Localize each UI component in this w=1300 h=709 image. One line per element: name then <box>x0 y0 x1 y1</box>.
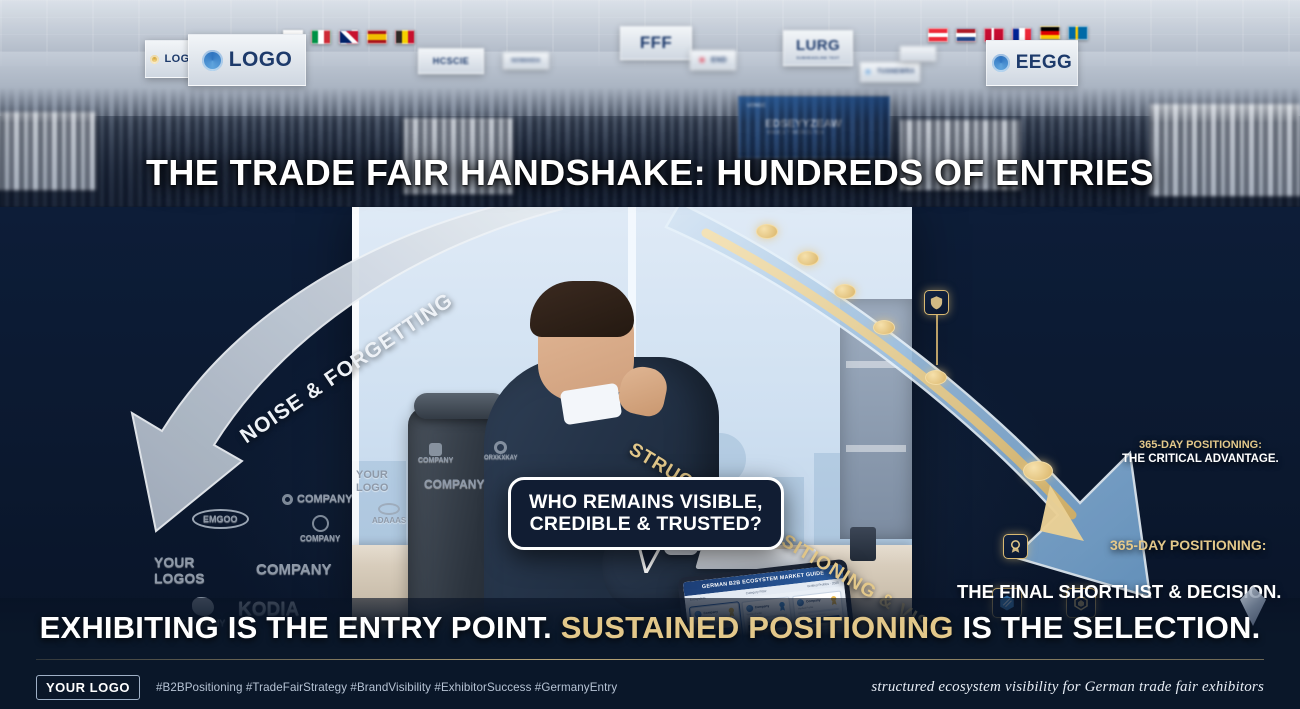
speech-bubble: WHO REMAINS VISIBLE, CREDIBLE & TRUSTED? <box>508 477 784 550</box>
hall-banner-fsio <box>900 46 936 61</box>
hall-banner-hcscie: HCSCIE <box>418 48 484 74</box>
hall-banner-label: END <box>711 57 727 64</box>
footer-row: YOUR LOGO #B2BPositioning #TradeFairStra… <box>0 670 1300 704</box>
hall-banner-label: LURG <box>796 37 840 54</box>
bottom-bar: EXHIBITING IS THE ENTRY POINT. SUSTAINED… <box>0 598 1300 709</box>
flag-at <box>928 28 948 42</box>
hall-banner-lurg: LURG SUBHEADLINE TEXT <box>783 30 853 66</box>
flag-gb <box>339 30 359 44</box>
your-logo-badge[interactable]: YOUR LOGO <box>36 675 140 700</box>
logo-item: YOUR LOGOS <box>154 555 205 586</box>
hall-banner-label: EEGG <box>1016 52 1073 74</box>
award-icon <box>1008 539 1023 554</box>
hall-banner-label: TUSNEWRA <box>877 69 915 75</box>
red-dot-icon <box>699 57 705 63</box>
flag-it <box>311 30 331 44</box>
flag-nl <box>956 28 976 42</box>
speech-bubble-line1: WHO REMAINS VISIBLE, <box>529 491 763 513</box>
path-node <box>925 370 947 385</box>
speech-bubble-line2: CREDIBLE & TRUSTED? <box>529 513 763 535</box>
blue-sphere-icon <box>992 54 1010 72</box>
blue-dot-icon <box>865 69 871 75</box>
caption-lower-gold: 365-DAY POSITIONING: <box>1110 537 1266 553</box>
circle-logo-icon <box>282 494 293 505</box>
hall-banner-nowanda: NOWANDA <box>503 52 549 69</box>
infographic-stage: LOGO LOGO HCSCIE FFF LURG SUBHEADLINE TE… <box>0 0 1300 709</box>
flag-es <box>367 30 387 44</box>
path-node <box>1023 461 1053 481</box>
path-badge-shield <box>924 290 949 315</box>
flag-be <box>395 30 415 44</box>
hall-banner-tusnewra: TUSNEWRA <box>860 62 920 82</box>
logo-item: COMPANY <box>418 443 453 464</box>
hall-banner-eegg: EEGG <box>986 40 1078 86</box>
caption-upper-white: THE CRITICAL ADVANTAGE. <box>1122 453 1279 465</box>
tagline-part1: EXHIBITING IS THE ENTRY POINT. <box>40 610 561 645</box>
tagline-gold: SUSTAINED POSITIONING <box>561 610 954 645</box>
path-node <box>834 284 856 299</box>
hall-banner-logo-main: LOGO <box>188 34 306 86</box>
shield-icon <box>929 295 944 310</box>
path-badge-award <box>1003 534 1028 559</box>
page-headline: THE TRADE FAIR HANDSHAKE: HUNDREDS OF EN… <box>0 152 1300 194</box>
logo-item: EMGOO <box>192 509 249 529</box>
badge-connector <box>936 315 938 365</box>
logo-item: COMPANY <box>256 561 332 578</box>
tagline-part2: IS THE SELECTION. <box>954 610 1261 645</box>
flag-se <box>1068 26 1088 40</box>
ring-logo-icon <box>312 515 329 532</box>
rings-logo-icon <box>378 503 400 515</box>
hall-banner-label: LOGO <box>229 48 292 72</box>
hall-banner-label: HCSCIE <box>433 56 469 66</box>
square-logo-icon <box>429 443 442 456</box>
path-node <box>873 320 895 335</box>
path-node <box>797 251 819 266</box>
hashtag-list: #B2BPositioning #TradeFairStrategy #Bran… <box>156 681 617 694</box>
logo-item: YOUR LOGO <box>356 469 388 494</box>
hall-banner-label: FFF <box>640 33 672 53</box>
logo-item: ADAAAS <box>372 503 406 525</box>
gold-circle-icon <box>150 55 159 64</box>
path-node <box>756 224 778 239</box>
blue-sphere-icon <box>202 50 223 71</box>
circle-logo-icon <box>494 441 507 454</box>
logo-item: ORXKXKAY <box>484 441 517 461</box>
logo-item: COMPANY <box>424 477 484 491</box>
hall-banner-end: END <box>690 50 736 70</box>
hall-banner-fff: FFF <box>620 26 692 60</box>
hall-banner-label: NOWANDA <box>511 58 540 64</box>
bottom-tagline: EXHIBITING IS THE ENTRY POINT. SUSTAINED… <box>0 610 1300 646</box>
flag-de <box>1040 26 1060 40</box>
logo-item: COMPANY <box>282 493 352 505</box>
logo-item: COMPANY <box>300 515 340 543</box>
hall-banner-sublabel: SUBHEADLINE TEXT <box>796 55 839 60</box>
caption-upper-gold: 365-DAY POSITIONING: <box>1139 439 1262 451</box>
footer-tagline: structured ecosystem visibility for Germ… <box>871 679 1264 696</box>
divider-rule <box>36 659 1264 660</box>
